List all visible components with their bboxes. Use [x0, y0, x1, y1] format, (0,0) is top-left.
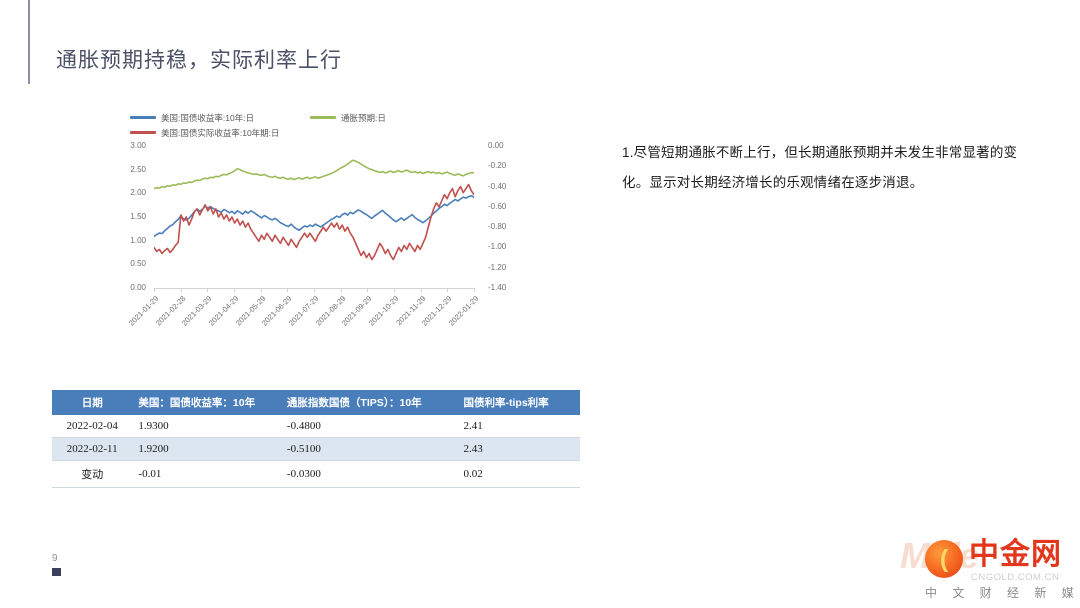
y-tick-left: 1.50 — [112, 213, 152, 221]
table-header-date: 日期 — [52, 390, 132, 415]
y-tick-right: -0.80 — [480, 223, 522, 231]
chart-line — [154, 196, 474, 237]
x-tickmark — [314, 288, 315, 292]
series-canvas — [154, 146, 474, 288]
table-head: 日期 美国：国债收益率：10年 通胀指数国债（TIPS）：10年 国债利率-ti… — [52, 390, 580, 415]
page-number-marker — [52, 568, 61, 576]
y-axis-left: 3.002.502.001.501.000.500.00 — [112, 146, 146, 296]
y-tick-left: 2.50 — [112, 166, 152, 174]
slide-root: 通胀预期持稳，实际利率上行 美国:国债收益率:10年:日 通胀预期:日 美国:国… — [0, 0, 1080, 608]
x-axis-ticks: 2021-01-292021-02-282021-03-292021-04-29… — [154, 288, 474, 348]
chart-svg — [154, 146, 474, 288]
x-tickmark — [261, 288, 262, 292]
y-tick-left: 3.00 — [112, 142, 152, 150]
x-tickmark — [421, 288, 422, 292]
y-tick-left: 2.00 — [112, 189, 152, 197]
y-tick-right: -1.40 — [480, 284, 522, 292]
table-cell: -0.5100 — [281, 438, 458, 461]
x-tickmark — [181, 288, 182, 292]
chart-legend: 美国:国债收益率:10年:日 通胀预期:日 美国:国债实际收益率:10年期:日 — [130, 110, 522, 140]
table-header-spread: 国债利率-tips利率 — [458, 390, 580, 415]
logo-name: 中金网 — [969, 538, 1062, 572]
table-cell: 2.41 — [458, 415, 580, 438]
legend-swatch-blue — [130, 116, 156, 119]
legend-item-red: 美国:国债实际收益率:10年期:日 — [130, 127, 280, 139]
y-tick-right: -1.20 — [480, 264, 522, 272]
logo-circle-icon: ( — [925, 540, 963, 578]
y-tick-left: 1.00 — [112, 237, 152, 245]
legend-label-red: 美国:国债实际收益率:10年期:日 — [161, 127, 280, 139]
legend-swatch-red — [130, 131, 156, 134]
y-axis-right: 0.00-0.20-0.40-0.60-0.80-1.00-1.20-1.40 — [480, 146, 514, 296]
page-number: 9 — [52, 553, 58, 564]
legend-swatch-green — [310, 116, 336, 119]
chart-line — [154, 185, 474, 260]
y-tick-right: -0.60 — [480, 203, 522, 211]
x-tickmark — [234, 288, 235, 292]
chart-line — [154, 160, 474, 188]
table-header-tips: 通胀指数国债（TIPS）：10年 — [281, 390, 458, 415]
x-tickmark — [154, 288, 155, 292]
legend-item-blue: 美国:国债收益率:10年:日 — [130, 112, 254, 124]
chart-container: 美国:国债收益率:10年:日 通胀预期:日 美国:国债实际收益率:10年期:日 … — [112, 110, 522, 350]
table-body: 2022-02-041.9300-0.48002.412022-02-111.9… — [52, 415, 580, 488]
table-cell: 0.02 — [458, 461, 580, 488]
table-cell: 2022-02-04 — [52, 415, 132, 438]
table-header-yield: 美国：国债收益率：10年 — [132, 390, 281, 415]
table-cell: 变动 — [52, 461, 132, 488]
table-cell: -0.0300 — [281, 461, 458, 488]
table-cell: 2.43 — [458, 438, 580, 461]
x-tickmark — [341, 288, 342, 292]
y-tick-right: 0.00 — [480, 142, 522, 150]
table-cell: -0.01 — [132, 461, 281, 488]
plot-area: 3.002.502.001.501.000.500.00 0.00-0.20-0… — [112, 146, 522, 296]
commentary-text: 1.尽管短期通胀不断上行，但长期通胀预期并未发生非常显著的变化。显示对长期经济增… — [622, 138, 1042, 198]
data-table: 日期 美国：国债收益率：10年 通胀指数国债（TIPS）：10年 国债利率-ti… — [52, 390, 580, 488]
x-tickmark — [447, 288, 448, 292]
table-row: 变动-0.01-0.03000.02 — [52, 461, 580, 488]
table-header-row: 日期 美国：国债收益率：10年 通胀指数国债（TIPS）：10年 国债利率-ti… — [52, 390, 580, 415]
site-logo: ( 中金网 CNGOLD.COM.CN 中 文 财 经 新 媒 体 — [925, 540, 1075, 602]
x-tickmark — [207, 288, 208, 292]
legend-item-green: 通胀预期:日 — [310, 112, 386, 124]
x-tickmark — [367, 288, 368, 292]
page-title: 通胀预期持稳，实际利率上行 — [56, 44, 342, 74]
table-row: 2022-02-041.9300-0.48002.41 — [52, 415, 580, 438]
table-cell: 1.9300 — [132, 415, 281, 438]
legend-label-green: 通胀预期:日 — [341, 112, 386, 124]
left-accent-rule — [28, 0, 30, 84]
x-tickmark — [287, 288, 288, 292]
y-tick-right: -0.20 — [480, 162, 522, 170]
x-tickmark — [394, 288, 395, 292]
legend-row-2: 美国:国债实际收益率:10年期:日 — [130, 125, 522, 140]
legend-row-1: 美国:国债收益率:10年:日 通胀预期:日 — [130, 110, 522, 125]
legend-label-blue: 美国:国债收益率:10年:日 — [161, 112, 254, 124]
y-tick-left: 0.00 — [112, 284, 152, 292]
y-tick-right: -1.00 — [480, 243, 522, 251]
table-cell: 2022-02-11 — [52, 438, 132, 461]
y-tick-left: 0.50 — [112, 260, 152, 268]
y-tick-right: -0.40 — [480, 183, 522, 191]
logo-swirl-icon: ( — [932, 546, 956, 572]
table-cell: 1.9200 — [132, 438, 281, 461]
logo-tagline: 中 文 财 经 新 媒 体 — [925, 584, 1080, 601]
logo-url: CNGOLD.COM.CN — [971, 572, 1059, 583]
table-row: 2022-02-111.9200-0.51002.43 — [52, 438, 580, 461]
x-tickmark — [474, 288, 475, 292]
table-cell: -0.4800 — [281, 415, 458, 438]
